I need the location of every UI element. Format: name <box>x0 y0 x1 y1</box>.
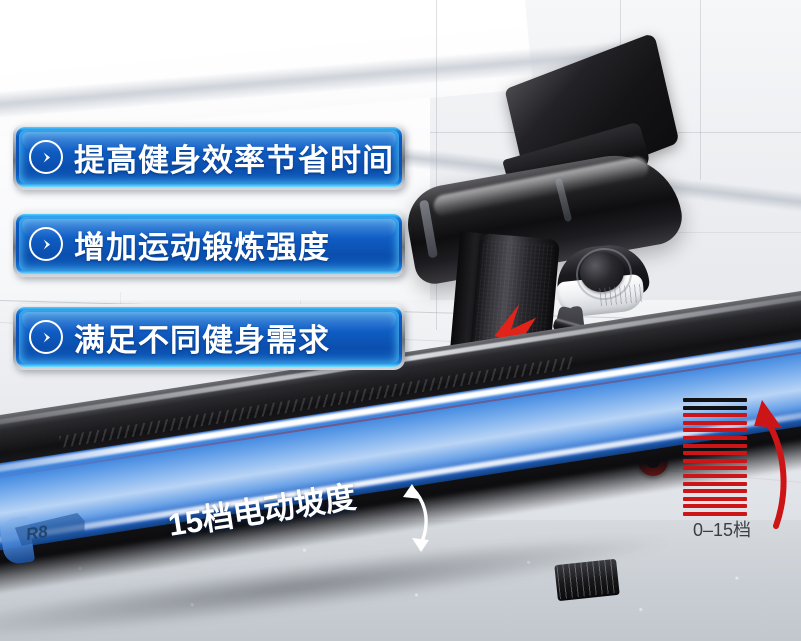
incline-range-label: 0–15档 <box>676 516 768 542</box>
feature-banner-2-label: 增加运动锻炼强度 <box>74 222 330 267</box>
feature-banner-2[interactable]: 增加运动锻炼强度 <box>13 211 405 277</box>
gauge-bar-black <box>683 406 747 410</box>
gauge-bar-red <box>683 497 747 501</box>
gauge-bar-red <box>683 421 747 425</box>
gauge-bar-red <box>683 459 747 463</box>
feature-banner-1-label: 提高健身效率节省时间 <box>74 135 394 180</box>
gauge-bar-red <box>683 444 747 448</box>
gauge-bar-red <box>683 489 747 493</box>
gauge-bar-red <box>683 474 747 478</box>
chevron-circle-right-icon <box>29 320 63 354</box>
incline-level-gauge <box>683 398 747 516</box>
curved-up-arrow-icon <box>742 392 800 532</box>
r8-badge-text: R8 <box>25 522 50 544</box>
gauge-bar-red <box>683 428 747 432</box>
gauge-bar-red <box>683 413 747 417</box>
product-feature-image: R8 15档电动坡度 提高健身效率节省时间 <box>0 0 801 641</box>
feature-banner-1[interactable]: 提高健身效率节省时间 <box>13 124 405 190</box>
gauge-bar-red <box>683 504 747 508</box>
gauge-bar-red <box>683 466 747 470</box>
gauge-bar-red <box>683 482 747 486</box>
gauge-bar-red <box>683 436 747 440</box>
gauge-bar-red <box>683 451 747 455</box>
double-headed-curved-arrow-icon <box>392 470 468 560</box>
feature-banner-3[interactable]: 满足不同健身需求 <box>13 304 405 370</box>
gauge-bar-black <box>683 398 747 402</box>
chevron-circle-right-icon <box>29 227 63 261</box>
feature-banner-3-label: 满足不同健身需求 <box>74 315 330 360</box>
chevron-circle-right-icon <box>29 140 63 174</box>
